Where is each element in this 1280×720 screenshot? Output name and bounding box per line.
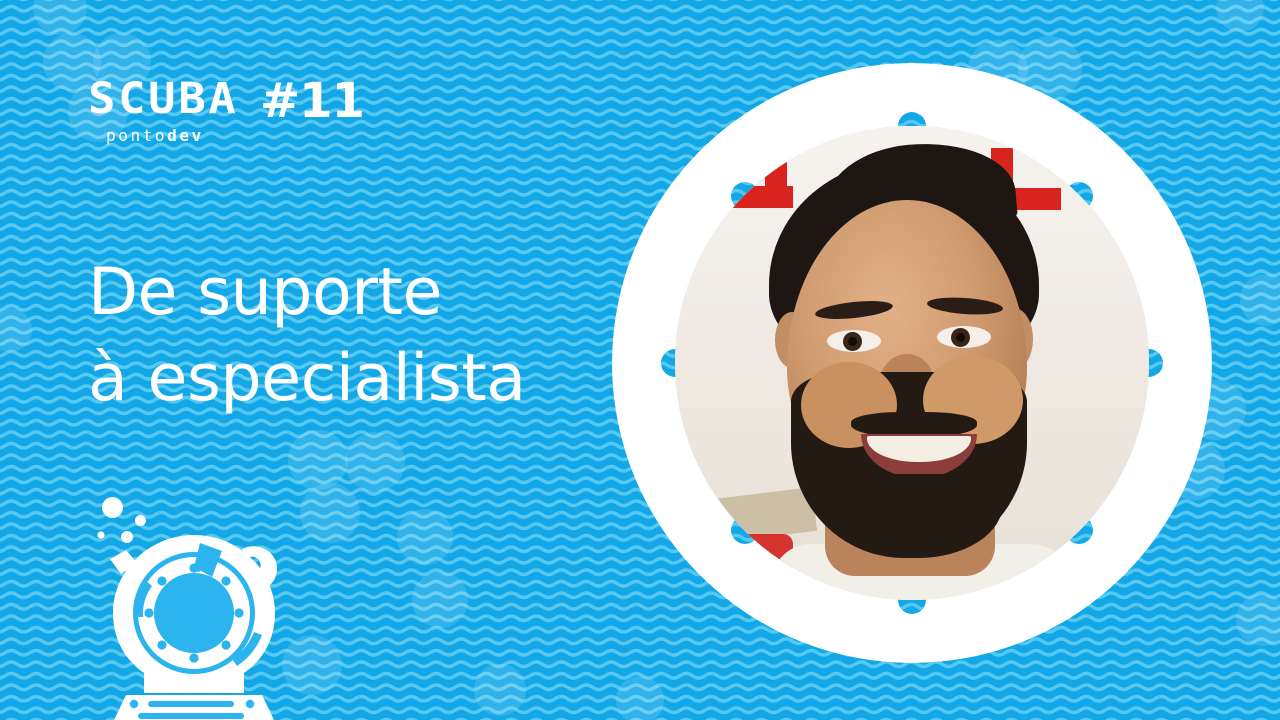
background-bubble — [1240, 274, 1280, 326]
photo-brow-right — [927, 295, 1004, 316]
background-bubble — [1236, 594, 1280, 646]
background-bubble — [1216, 0, 1264, 32]
photo-hair — [769, 160, 1039, 370]
diving-helmet-icon — [82, 487, 306, 720]
photo-pupil-right — [956, 333, 965, 342]
brand-lockup: SCUBA pontodev #11 — [88, 78, 364, 144]
photo-red-decor-left-horizontal — [701, 186, 793, 208]
photo-iris-right — [951, 328, 970, 347]
photo-teeth — [867, 436, 971, 462]
photo-pupil-left — [848, 337, 857, 346]
guest-portrait-porthole — [612, 63, 1212, 663]
brand-subtitle-light: ponto — [106, 126, 167, 145]
photo-red-decor-left-vertical — [765, 144, 787, 204]
left-content-column: SCUBA pontodev #11 De suporte à especial… — [0, 0, 620, 720]
photo-nose — [879, 354, 935, 416]
episode-number: #11 — [260, 78, 364, 124]
photo-ear-right — [995, 308, 1033, 370]
brand-name-block: SCUBA pontodev — [88, 78, 230, 144]
photo-cheek-right — [923, 356, 1023, 444]
background-bubble — [616, 676, 664, 720]
headline-line-2: à especialista — [88, 336, 608, 422]
photo-beard — [791, 372, 1027, 558]
photo-neck — [825, 456, 995, 576]
brand-wordmark: SCUBA — [88, 78, 238, 121]
photo-red-decor-right-horizontal — [991, 188, 1061, 210]
photo-eye-left — [827, 330, 881, 352]
helmet-bubble-medium — [135, 515, 146, 526]
brand-subtitle: pontodev — [106, 128, 204, 144]
guest-portrait-photo — [675, 126, 1149, 600]
video-thumbnail: SCUBA pontodev #11 De suporte à especial… — [0, 0, 1280, 720]
photo-brow-left — [814, 298, 893, 322]
photo-iris-left — [843, 332, 862, 351]
brand-subtitle-bold: dev — [167, 126, 204, 145]
photo-red-collar-detail — [733, 534, 793, 600]
photo-ear-left — [775, 312, 809, 368]
photo-wall-background — [675, 126, 1149, 600]
photo-shelf — [675, 487, 817, 549]
helmet-bubble-large — [102, 497, 123, 518]
photo-eye-right — [937, 326, 991, 348]
photo-moustache — [851, 412, 977, 438]
headline-title: De suporte à especialista — [88, 250, 608, 423]
photo-cheek-left — [801, 362, 897, 448]
headline-line-1: De suporte — [88, 250, 608, 336]
photo-mouth — [861, 434, 977, 478]
helmet-bubble-small — [121, 531, 133, 543]
helmet-bubble-tiny — [97, 531, 104, 538]
photo-hair-sweep — [821, 136, 1018, 242]
photo-face — [787, 200, 1027, 500]
photo-chin-beard — [833, 474, 1003, 558]
photo-red-decor-right-vertical — [991, 148, 1013, 210]
photo-shirt — [771, 544, 1071, 600]
